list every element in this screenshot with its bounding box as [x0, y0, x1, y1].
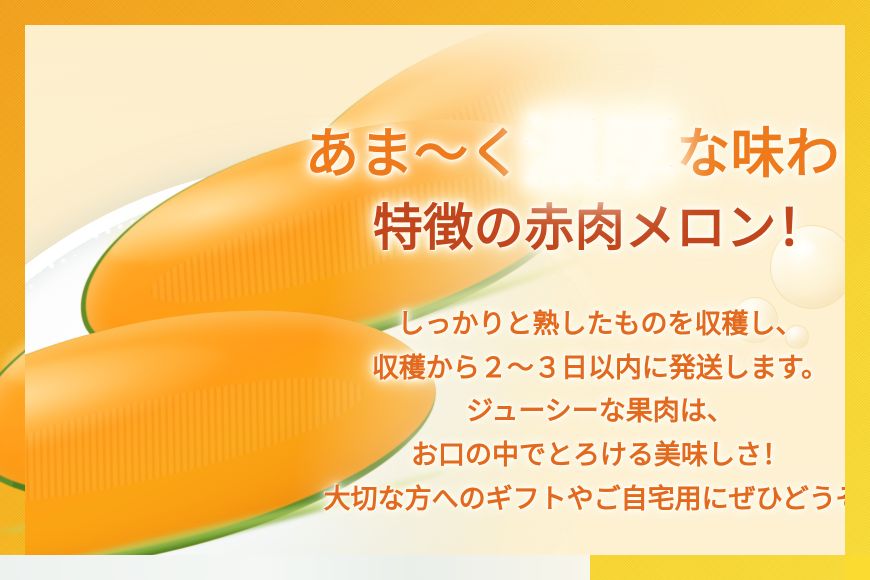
headline-line-1-post: な味わいが: [676, 124, 845, 184]
banner-copy: あま～く濃厚な味わいが 特徴の赤肉メロン！ しっかりと熟したものを収穫し、 収穫…: [305, 25, 845, 555]
photo-bleed-left: [0, 225, 25, 580]
body-line: お口の中でとろける美味しさ！: [305, 434, 845, 478]
headline-line-2: 特徴の赤肉メロン！: [305, 203, 845, 253]
promo-banner: あま～く濃厚な味わいが 特徴の赤肉メロン！ しっかりと熟したものを収穫し、 収穫…: [0, 0, 870, 580]
frame-corner-notch: [845, 555, 870, 580]
body-copy: しっかりと熟したものを収穫し、 収穫から２～３日以内に発送します。 ジューシーな…: [305, 303, 845, 522]
melon-slice-front-bleed: [0, 225, 25, 550]
body-line: 収穫から２～３日以内に発送します。: [305, 347, 845, 391]
headline: あま～く濃厚な味わいが 特徴の赤肉メロン！: [305, 117, 845, 253]
headline-line-1: あま～く濃厚な味わいが: [305, 117, 845, 191]
headline-line-1-pre: あま～く: [305, 124, 523, 184]
photo-bleed-bottom: [0, 555, 590, 580]
body-line: ジューシーな果肉は、: [305, 390, 845, 434]
melon-rind: [0, 225, 25, 550]
body-line: 大切な方へのギフトやご自宅用にぜひどうぞ♪: [305, 478, 845, 522]
plate-bleed: [0, 555, 590, 580]
banner-canvas: あま～く濃厚な味わいが 特徴の赤肉メロン！ しっかりと熟したものを収穫し、 収穫…: [25, 25, 845, 555]
body-line: しっかりと熟したものを収穫し、: [305, 303, 845, 347]
headline-emphasis: 濃厚: [523, 113, 676, 195]
